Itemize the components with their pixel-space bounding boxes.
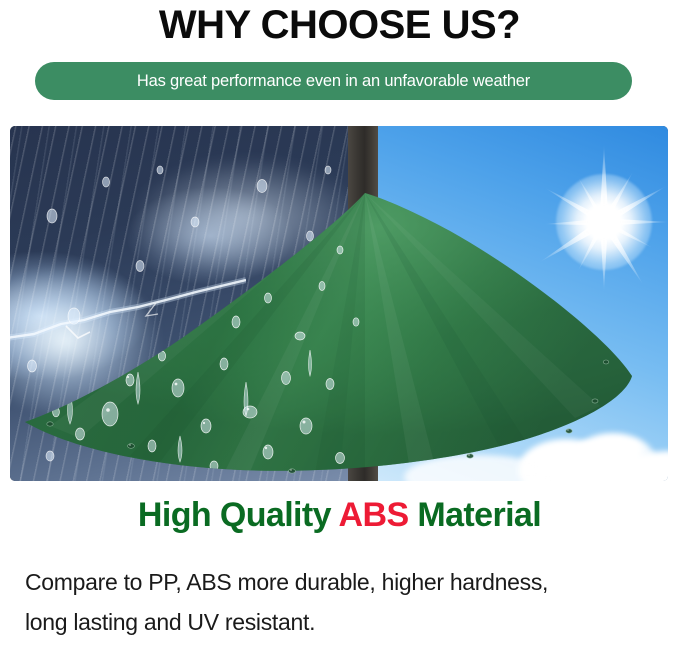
headline-part-2: Material (409, 496, 542, 534)
material-headline: High Quality ABS Material (0, 495, 679, 535)
mounting-pole (348, 126, 378, 481)
material-description-line-1: Compare to PP, ABS more durable, higher … (25, 562, 665, 602)
headline-highlight-abs: ABS (339, 496, 409, 534)
subtitle-banner-label: Has great performance even in an unfavor… (137, 73, 530, 90)
background-water-droplets (10, 126, 378, 481)
page-title: WHY CHOOSE US? (0, 2, 679, 48)
stormy-weather-scene (10, 126, 378, 481)
sun-core (556, 174, 652, 270)
headline-part-1: High Quality (138, 496, 339, 534)
hero-photo (10, 126, 668, 481)
material-description-line-2: long lasting and UV resistant. (25, 602, 665, 642)
subtitle-banner: Has great performance even in an unfavor… (35, 62, 632, 100)
material-description: Compare to PP, ABS more durable, higher … (25, 562, 665, 642)
sunny-sky-scene (378, 126, 668, 481)
